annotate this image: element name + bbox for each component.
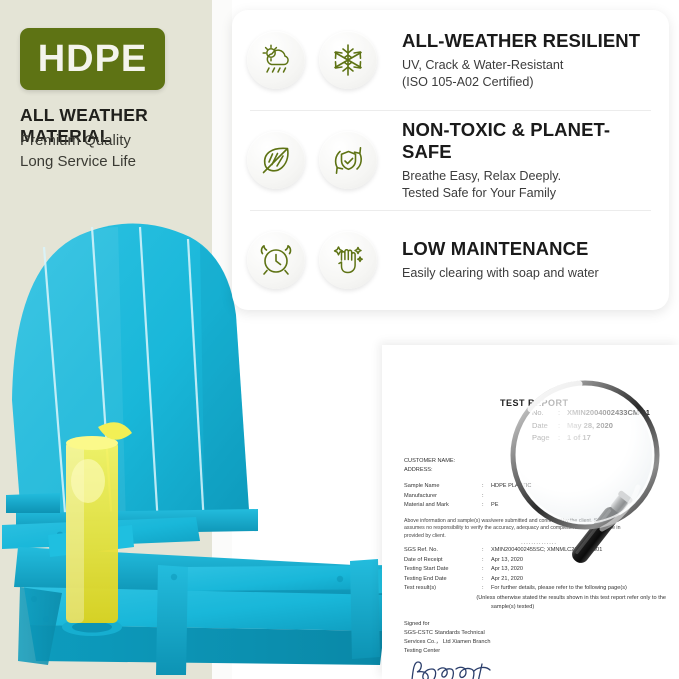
- feature-row-low-maintenance: LOW MAINTENANCE Easily clearing with soa…: [232, 210, 669, 310]
- feature-desc-line-2: Tested Safe for Your Family: [402, 185, 655, 202]
- magnifier-lens: [513, 383, 657, 529]
- field-test-results-cont-2: sample(s) tested): [404, 603, 666, 613]
- feature-title: ALL-WEATHER RESILIENT: [402, 30, 655, 52]
- field-test-results: Test result(s) : For further details, pl…: [404, 584, 666, 594]
- field-colon: :: [482, 575, 491, 585]
- field-key-spacer: [404, 594, 469, 604]
- field-key: Testing Start Date: [404, 565, 482, 575]
- field-value: For further details, please refer to the…: [491, 584, 627, 594]
- feature-icons-row-3: [240, 231, 384, 289]
- feature-title: LOW MAINTENANCE: [402, 238, 655, 260]
- signature-block: Signed for SGS-CSTC Standards Technical …: [404, 620, 666, 679]
- signed-org-line-2: Services Co.， Ltd Xiamen Branch: [404, 638, 666, 647]
- snowflake-icon: [319, 31, 377, 89]
- feature-icons-row-1: [240, 31, 384, 89]
- field-key: Material and Mark: [404, 501, 482, 511]
- field-key: SGS Ref. No.: [404, 546, 482, 556]
- badge-sub-line-2: Long Service Life: [20, 151, 220, 172]
- feature-card: ALL-WEATHER RESILIENT UV, Crack & Water-…: [232, 10, 669, 310]
- field-test-results-cont-1: (Unless otherwise stated the results sho…: [404, 594, 666, 604]
- field-colon: :: [482, 492, 491, 502]
- feature-desc-line-2: (ISO 105-A02 Certified): [402, 74, 655, 91]
- field-key: Date of Receipt: [404, 556, 482, 566]
- field-value: (Unless otherwise stated the results sho…: [476, 594, 666, 604]
- signed-org-line-3: Testing Center: [404, 647, 666, 656]
- signed-org-line-1: SGS-CSTC Standards Technical: [404, 629, 666, 638]
- feature-desc: UV, Crack & Water-Resistant (ISO 105-A02…: [402, 57, 655, 90]
- field-colon: :: [482, 482, 491, 492]
- badge-sub-line-1: Premium Quality: [20, 130, 220, 151]
- field-colon-spacer: [482, 603, 491, 613]
- leaf-icon: [247, 131, 305, 189]
- hdpe-badge: HDPE: [20, 28, 165, 90]
- feature-row-all-weather: ALL-WEATHER RESILIENT UV, Crack & Water-…: [232, 10, 669, 110]
- badge-subtext: Premium Quality Long Service Life: [20, 130, 220, 172]
- field-colon: :: [482, 565, 491, 575]
- field-colon: :: [482, 556, 491, 566]
- hdpe-badge-label: HDPE: [38, 38, 148, 81]
- field-colon: :: [482, 546, 491, 556]
- feature-row-non-toxic: NON-TOXIC & PLANET-SAFE Breathe Easy, Re…: [232, 110, 669, 210]
- feature-desc: Breathe Easy, Relax Deeply. Tested Safe …: [402, 168, 655, 201]
- handwritten-signature: [408, 658, 666, 679]
- field-colon-spacer: [469, 594, 476, 604]
- sun-cloud-rain-icon: [247, 31, 305, 89]
- feature-icons-row-2: [240, 131, 384, 189]
- field-value: sample(s) tested): [491, 603, 534, 613]
- field-key: Manufacturer: [404, 492, 482, 502]
- feature-text-row-2: NON-TOXIC & PLANET-SAFE Breathe Easy, Re…: [384, 119, 655, 201]
- feature-desc-line-1: UV, Crack & Water-Resistant: [402, 57, 655, 74]
- product-marketing-image: HDPE ALL WEATHER MATERIAL Premium Qualit…: [0, 0, 679, 679]
- field-colon: :: [482, 584, 491, 594]
- hand-wipe-sparkle-icon: [319, 231, 377, 289]
- feature-desc: Easily clearing with soap and water: [402, 265, 655, 282]
- feature-text-row-1: ALL-WEATHER RESILIENT UV, Crack & Water-…: [384, 30, 655, 90]
- magnifier-svg: [505, 367, 679, 582]
- chair-backrest: [12, 223, 250, 530]
- feature-desc-line-1: Easily clearing with soap and water: [402, 265, 655, 282]
- feature-title: NON-TOXIC & PLANET-SAFE: [402, 119, 655, 163]
- field-key: Sample Name: [404, 482, 482, 492]
- signed-for-label: Signed for: [404, 620, 666, 629]
- recycle-shield-check-icon: [319, 131, 377, 189]
- field-value: PE: [491, 501, 498, 511]
- alarm-clock-icon: [247, 231, 305, 289]
- feature-text-row-3: LOW MAINTENANCE Easily clearing with soa…: [384, 238, 655, 282]
- field-key: Test result(s): [404, 584, 482, 594]
- feature-desc-line-1: Breathe Easy, Relax Deeply.: [402, 168, 655, 185]
- field-key-spacer: [404, 603, 482, 613]
- field-colon: :: [482, 501, 491, 511]
- field-key: Testing End Date: [404, 575, 482, 585]
- magnifying-glass: [505, 367, 679, 582]
